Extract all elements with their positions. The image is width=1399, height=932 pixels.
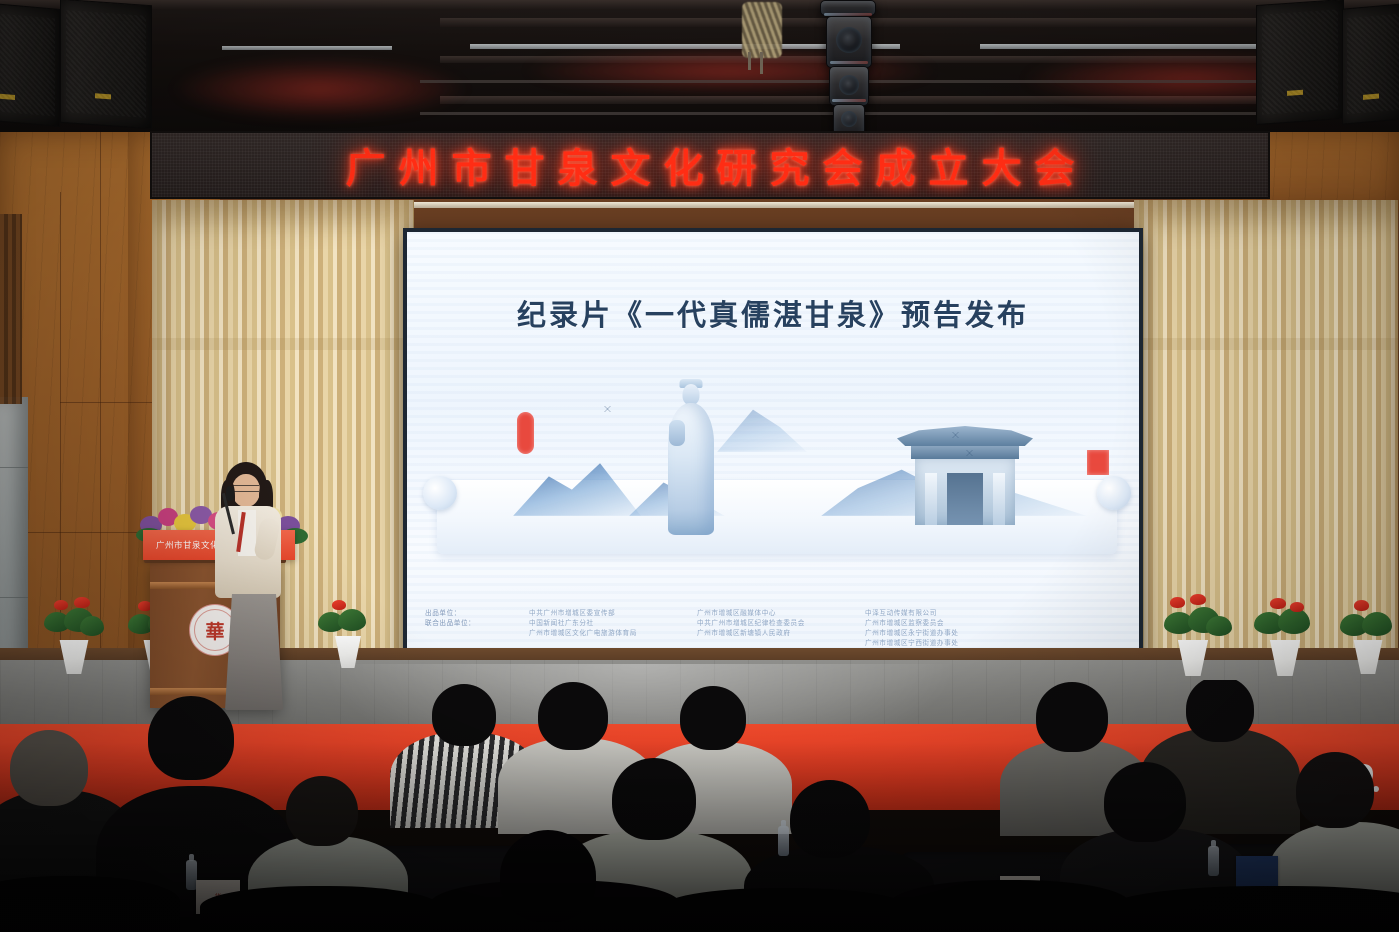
anthurium-plant [318, 598, 376, 642]
fixture-lens [836, 27, 862, 53]
ceiling-red-glow [170, 58, 470, 120]
audience-member [0, 876, 180, 932]
fixture-lens [839, 75, 859, 95]
plant-flower [1170, 597, 1185, 608]
audience-head [1186, 680, 1254, 742]
scroll-roll-right [1097, 476, 1131, 510]
statue-arm [669, 420, 685, 446]
credit-label: 出品单位： [425, 608, 529, 618]
audience-head [500, 830, 596, 922]
lighting-truss [420, 80, 1399, 83]
screen-title: 纪录片《一代真儒湛甘泉》预告发布 [407, 292, 1139, 334]
stage-light-fixture [820, 0, 876, 16]
cable-bundle [742, 2, 782, 58]
stage-light-fixture [826, 16, 872, 68]
conference-hall-photo: 广州市甘泉文化研究会成立大会 纪录片《一代真儒湛甘泉》预告发布 [0, 0, 1399, 932]
audience-head [1036, 682, 1108, 752]
speaker-badge [1287, 90, 1303, 96]
credit-cell [529, 638, 697, 648]
credit-label [425, 628, 529, 638]
plant-leaf [1362, 612, 1392, 636]
plant-flower [1354, 600, 1369, 611]
credit-cell: 中共广州市增城区委宣传部 [529, 608, 697, 618]
credit-cell: 中国新闻社广东分社 [529, 618, 697, 628]
plant-flower [1270, 598, 1286, 609]
audience-head [1104, 762, 1186, 842]
audience-head [538, 682, 608, 750]
fixture-lens [841, 111, 857, 127]
plant-flower [1190, 594, 1206, 605]
credit-cell: 广州市增城区融媒体中心 [697, 608, 865, 618]
stone-seam [0, 597, 28, 598]
credit-label [425, 638, 529, 648]
swallow-icon [951, 432, 960, 438]
credit-label: 联合出品单位： [425, 618, 529, 628]
speaker-badge [1363, 93, 1379, 99]
plant-flower [74, 597, 90, 608]
credit-cell: 广州市增城区新塘镇人民政府 [697, 628, 865, 638]
credit-cell: 广州市增城区监察委员会 [865, 618, 1033, 628]
plant-flower [332, 600, 346, 610]
anthurium-plant [1164, 594, 1234, 644]
hanging-speaker [1342, 3, 1399, 124]
credit-cell: 广州市增城区文化广电旅游体育局 [529, 628, 697, 638]
audience-member [660, 888, 910, 932]
curtain-band [152, 338, 414, 350]
audience-head [680, 686, 746, 750]
document-folder [1236, 856, 1278, 888]
audience-head [286, 776, 358, 846]
archway-body [915, 459, 1015, 525]
slat-wall [0, 214, 22, 404]
credit-cell: 广州市增城区宁西街道办事处 [865, 638, 1033, 648]
red-seal-right [1087, 450, 1109, 475]
credit-cell [697, 638, 865, 648]
audience-area: 华 华 [0, 680, 1399, 932]
scholar-statue [663, 384, 719, 536]
lighting-truss [420, 112, 1399, 115]
statue-head [683, 384, 700, 405]
fixture-rim [832, 99, 865, 102]
archway-door [947, 473, 983, 525]
audience-member [1110, 886, 1399, 932]
audience-head [10, 730, 88, 806]
audience-member [200, 886, 440, 932]
credit-cell: 中共广州市增城区纪律检查委员会 [697, 618, 865, 628]
audience-head [432, 684, 496, 746]
ceiling-beam [0, 0, 1399, 10]
screen-credits: 出品单位： 中共广州市增城区委宣传部 广州市增城区融媒体中心 中泽互动传媒有限公… [425, 608, 1125, 648]
microphone-icon [226, 486, 234, 501]
ceiling-light-strip [222, 46, 392, 50]
anthurium-plant [42, 596, 106, 644]
mountain-ink [717, 406, 807, 452]
plant-leaf [338, 609, 366, 631]
plant-flower [54, 600, 68, 610]
plant-flower [1290, 602, 1304, 612]
curtain-band [1134, 338, 1398, 350]
plant-leaf [80, 616, 104, 636]
audience-head [612, 758, 696, 840]
stage-light-fixture [829, 66, 869, 106]
projection-screen-frame: 纪录片《一代真儒湛甘泉》预告发布 [403, 228, 1143, 662]
ceiling-red-glow [520, 48, 940, 94]
cable [760, 52, 763, 74]
speaker-badge [95, 93, 111, 99]
archway-pillar [993, 473, 1005, 525]
anthurium-plant [1254, 596, 1322, 644]
audience-head [1296, 752, 1374, 828]
led-banner: 广州市甘泉文化研究会成立大会 [150, 131, 1270, 199]
ceiling [0, 0, 1399, 132]
credit-cell: 中泽互动传媒有限公司 [865, 608, 1033, 618]
archway-pillar [925, 473, 937, 525]
audience-head [790, 780, 870, 858]
fixture-rim [830, 61, 869, 64]
cable [748, 52, 751, 70]
red-seal-left [517, 412, 534, 454]
audience-member [890, 880, 1130, 932]
stone-seam [0, 467, 28, 468]
anthurium-plant [1340, 598, 1398, 644]
hanging-speaker [60, 0, 152, 129]
glasses-icon [233, 485, 259, 492]
plant-leaf [1206, 616, 1232, 636]
swallow-icon [965, 450, 974, 456]
swallow-icon [603, 406, 612, 412]
audience-head [148, 696, 234, 780]
credit-cell: 广州市增城区永宁街道办事处 [865, 628, 1033, 638]
led-banner-text: 广州市甘泉文化研究会成立大会 [333, 136, 1088, 194]
hanging-speaker [0, 3, 60, 127]
scroll-roll-left [423, 476, 457, 510]
projection-screen: 纪录片《一代真儒湛甘泉》预告发布 [407, 232, 1139, 658]
archway-roof [897, 426, 1033, 446]
speaker-badge [0, 94, 15, 100]
water-bottle [778, 826, 789, 856]
memorial-archway [897, 426, 1033, 532]
screen-artwork [417, 372, 1137, 572]
water-bottle [1208, 846, 1219, 876]
hanging-speaker [1256, 0, 1344, 125]
